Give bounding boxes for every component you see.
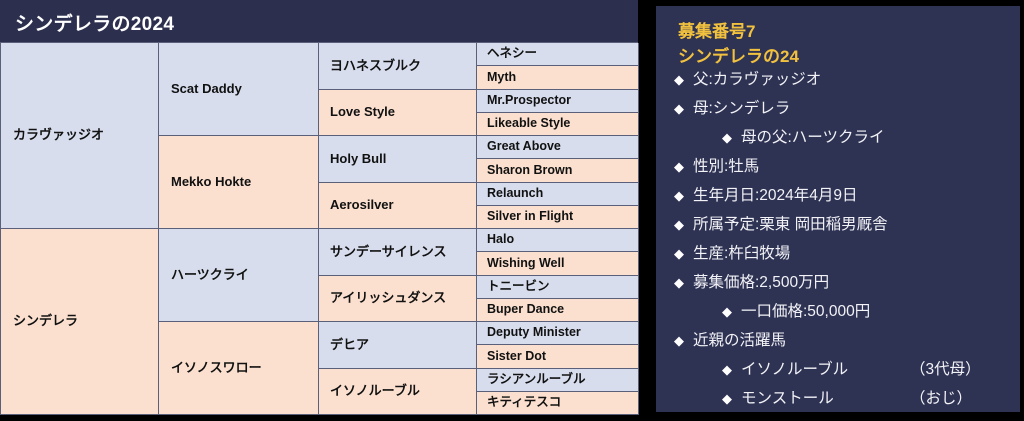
detail-item-label: 所属予定:栗東 岡田稲男厩舎 bbox=[693, 217, 888, 233]
diamond-bullet-icon: ◆ bbox=[722, 392, 732, 405]
detail-item-note: （3代母） bbox=[910, 362, 981, 378]
diamond-bullet-icon: ◆ bbox=[674, 247, 684, 260]
pedigree-cell: Wishing Well bbox=[477, 252, 639, 275]
offer-number-heading: 募集番号7 bbox=[678, 20, 799, 45]
pedigree-cell: ヨハネスブルク bbox=[319, 43, 477, 90]
diamond-bullet-icon: ◆ bbox=[722, 363, 732, 376]
pedigree-cell: Great Above bbox=[477, 136, 639, 159]
diamond-bullet-icon: ◆ bbox=[674, 189, 684, 202]
detail-item-label: 母:シンデレラ bbox=[693, 101, 790, 117]
detail-item: ◆母:シンデレラ bbox=[674, 101, 1014, 130]
pedigree-cell: ヘネシー bbox=[477, 43, 639, 66]
pedigree-cell: Sister Dot bbox=[477, 345, 639, 368]
diamond-bullet-icon: ◆ bbox=[674, 102, 684, 115]
pedigree-column-generation-1: カラヴァッジオシンデレラ bbox=[1, 43, 159, 415]
detail-item-label: 一口価格:50,000円 bbox=[741, 304, 870, 320]
detail-item: ◆母の父:ハーツクライ bbox=[674, 130, 1014, 159]
detail-item-label: 生産:杵臼牧場 bbox=[693, 246, 790, 262]
detail-item: ◆モンストール（おじ） bbox=[674, 391, 1014, 420]
pedigree-cell: Halo bbox=[477, 229, 639, 252]
diamond-bullet-icon: ◆ bbox=[674, 276, 684, 289]
pedigree-cell: Likeable Style bbox=[477, 113, 639, 136]
pedigree-column-generation-4: ヘネシーMythMr.ProspectorLikeable StyleGreat… bbox=[477, 43, 639, 415]
detail-item-label: 生年月日:2024年4月9日 bbox=[693, 188, 858, 204]
horse-info-panel: 募集番号7 シンデレラの24 ◆父:カラヴァッジオ◆母:シンデレラ◆母の父:ハー… bbox=[656, 6, 1020, 412]
detail-item-label: 父:カラヴァッジオ bbox=[693, 72, 821, 88]
pedigree-cell: ラシアンルーブル bbox=[477, 369, 639, 392]
pedigree-cell: Relaunch bbox=[477, 183, 639, 206]
detail-item-note: （おじ） bbox=[910, 391, 972, 407]
pedigree-cell: イソノルーブル bbox=[319, 369, 477, 416]
pedigree-table: カラヴァッジオシンデレラ Scat DaddyMekko Hokteハーツクライ… bbox=[0, 42, 638, 415]
detail-item: ◆一口価格:50,000円 bbox=[674, 304, 1014, 333]
horse-detail-list: ◆父:カラヴァッジオ◆母:シンデレラ◆母の父:ハーツクライ◆性別:牡馬◆生年月日… bbox=[674, 72, 1014, 420]
pedigree-cell: Sharon Brown bbox=[477, 159, 639, 182]
detail-item-label: イソノルーブル bbox=[741, 362, 848, 378]
pedigree-cell: Love Style bbox=[319, 90, 477, 137]
detail-item: ◆父:カラヴァッジオ bbox=[674, 72, 1014, 101]
pedigree-cell: Myth bbox=[477, 66, 639, 89]
pedigree-column-generation-3: ヨハネスブルクLove StyleHoly BullAerosilverサンデー… bbox=[319, 43, 477, 415]
detail-item: ◆近親の活躍馬 bbox=[674, 333, 1014, 362]
pedigree-cell: イソノスワロー bbox=[159, 322, 319, 415]
detail-item: ◆募集価格:2,500万円 bbox=[674, 275, 1014, 304]
info-heading-block: 募集番号7 シンデレラの24 bbox=[678, 20, 799, 69]
pedigree-cell: Aerosilver bbox=[319, 183, 477, 230]
pedigree-cell: ハーツクライ bbox=[159, 229, 319, 322]
detail-item-label: モンストール bbox=[741, 391, 834, 407]
diamond-bullet-icon: ◆ bbox=[674, 334, 684, 347]
pedigree-cell: デヒア bbox=[319, 322, 477, 369]
detail-item: ◆生産:杵臼牧場 bbox=[674, 246, 1014, 275]
detail-item-label: 近親の活躍馬 bbox=[693, 333, 786, 349]
pedigree-cell: Buper Dance bbox=[477, 299, 639, 322]
pedigree-column-generation-2: Scat DaddyMekko Hokteハーツクライイソノスワロー bbox=[159, 43, 319, 415]
diamond-bullet-icon: ◆ bbox=[722, 131, 732, 144]
pedigree-cell: サンデーサイレンス bbox=[319, 229, 477, 276]
diamond-bullet-icon: ◆ bbox=[674, 160, 684, 173]
detail-item: ◆性別:牡馬 bbox=[674, 159, 1014, 188]
pedigree-cell: アイリッシュダンス bbox=[319, 276, 477, 323]
horse-name-heading: シンデレラの24 bbox=[678, 45, 799, 70]
pedigree-cell: Mr.Prospector bbox=[477, 90, 639, 113]
detail-item: ◆生年月日:2024年4月9日 bbox=[674, 188, 1014, 217]
pedigree-title-bar: シンデレラの2024 bbox=[0, 0, 638, 42]
pedigree-cell: キティテスコ bbox=[477, 392, 639, 415]
detail-item: ◆所属予定:栗東 岡田稲男厩舎 bbox=[674, 217, 1014, 246]
page-title: シンデレラの2024 bbox=[15, 9, 174, 36]
detail-item-label: 募集価格:2,500万円 bbox=[693, 275, 829, 291]
detail-item: ◆イソノルーブル（3代母） bbox=[674, 362, 1014, 391]
detail-item-label: 性別:牡馬 bbox=[693, 159, 759, 175]
pedigree-cell: Scat Daddy bbox=[159, 43, 319, 136]
pedigree-cell: カラヴァッジオ bbox=[1, 43, 159, 229]
pedigree-cell: Deputy Minister bbox=[477, 322, 639, 345]
diamond-bullet-icon: ◆ bbox=[674, 218, 684, 231]
pedigree-cell: シンデレラ bbox=[1, 229, 159, 415]
detail-item-label: 母の父:ハーツクライ bbox=[741, 130, 885, 146]
diamond-bullet-icon: ◆ bbox=[722, 305, 732, 318]
pedigree-cell: Silver in Flight bbox=[477, 206, 639, 229]
pedigree-cell: Mekko Hokte bbox=[159, 136, 319, 229]
pedigree-cell: Holy Bull bbox=[319, 136, 477, 183]
diamond-bullet-icon: ◆ bbox=[674, 73, 684, 86]
pedigree-panel: シンデレラの2024 カラヴァッジオシンデレラ Scat DaddyMekko … bbox=[0, 0, 638, 415]
pedigree-cell: トニービン bbox=[477, 276, 639, 299]
